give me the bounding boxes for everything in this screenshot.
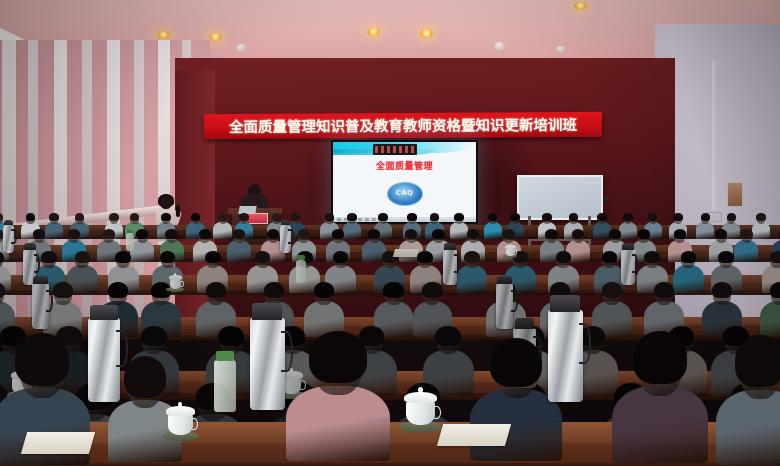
audience-hair	[542, 213, 551, 221]
conference-hall-photo: 全面质量管理知识普及教育教师资格暨知识更新培训班 全面质量管理 CAQ	[0, 0, 780, 466]
audience-hair	[609, 229, 621, 239]
audience-hair	[103, 229, 115, 239]
teacup-body	[406, 401, 435, 425]
audience-hair	[648, 213, 657, 221]
thermos-cap	[252, 303, 282, 320]
foreground-torso	[716, 390, 780, 466]
thermos-cap	[90, 305, 118, 320]
audience-hair	[108, 282, 128, 298]
audience-hair	[770, 251, 780, 264]
audience-hair	[740, 229, 752, 239]
slide-logo-text: CAQ	[388, 189, 422, 197]
thermos-handle	[288, 229, 293, 244]
audience-hair	[267, 229, 279, 239]
audience-hair	[332, 229, 344, 239]
audience-hair	[597, 213, 606, 221]
audience-hair	[272, 213, 281, 221]
audience-hair	[602, 282, 622, 298]
audience-hair	[53, 282, 73, 298]
bottle-cap	[216, 351, 234, 361]
bottle-cap	[127, 230, 133, 234]
teacup	[506, 245, 515, 256]
audience-hair	[191, 213, 200, 221]
thermos-flask	[3, 225, 14, 253]
audience-hair	[141, 326, 167, 347]
audience-hair	[644, 251, 660, 264]
audience-hair	[435, 326, 461, 347]
foreground-hair	[124, 356, 165, 398]
water-bottle	[126, 233, 134, 251]
audience-hair	[130, 213, 139, 221]
audience-hair	[545, 229, 557, 239]
audience-hair	[33, 229, 45, 239]
audience-member	[457, 252, 488, 296]
audience-hair	[0, 213, 3, 221]
audience-hair	[602, 251, 618, 264]
audience-hair	[0, 251, 4, 264]
water-bottle	[214, 360, 236, 412]
event-banner-text: 全面质量管理知识普及教育教师资格暨知识更新培训班	[229, 114, 577, 137]
thermos-cap	[24, 243, 36, 249]
foreground-attendee	[612, 336, 708, 456]
audience-area	[0, 210, 780, 466]
thermos-cap	[4, 220, 13, 225]
audience-hair	[218, 213, 227, 221]
teacup-lid	[169, 275, 183, 280]
audience-hair	[464, 251, 480, 264]
audience-hair	[0, 282, 5, 298]
audience-hair	[115, 251, 131, 264]
slide-title-text: 全面质量管理	[333, 159, 476, 172]
audience-hair	[422, 282, 442, 298]
slide-title-box	[373, 144, 417, 155]
foreground-hair	[735, 335, 780, 387]
audience-hair	[75, 213, 84, 221]
foreground-torso	[612, 386, 708, 463]
audience-hair	[136, 229, 148, 239]
ceiling-downlight-icon	[209, 33, 222, 41]
audience-hair	[712, 282, 732, 298]
audience-hair	[405, 229, 417, 239]
audience-hair	[75, 251, 91, 264]
audience-hair	[161, 213, 170, 221]
teacup-body	[168, 414, 193, 435]
thermos-handle	[511, 290, 518, 312]
event-banner: 全面质量管理知识普及教育教师资格暨知识更新培训班	[204, 112, 602, 139]
thermos-cap	[444, 243, 456, 249]
teacup	[168, 406, 193, 435]
audience-hair	[638, 229, 650, 239]
thermos-cap	[515, 318, 535, 329]
audience-hair	[556, 251, 572, 264]
teacup	[406, 392, 435, 425]
audience-hair	[347, 213, 356, 221]
audience-hair	[333, 251, 349, 264]
teacup-lid	[505, 245, 516, 249]
audience-hair	[454, 213, 463, 221]
audience-hair	[681, 251, 697, 264]
audience-hair	[467, 229, 479, 239]
audience-hair	[314, 282, 334, 298]
audience-hair	[68, 229, 80, 239]
ceiling-downlight-icon	[157, 31, 170, 39]
water-bottle	[296, 260, 306, 283]
audience-hair	[430, 213, 439, 221]
audience-hair	[432, 229, 444, 239]
thermos-flask	[496, 283, 513, 329]
ceiling-downlight-icon	[420, 29, 433, 37]
thermos-cap	[33, 276, 48, 284]
audience-hair	[233, 229, 245, 239]
audience-hair	[26, 213, 35, 221]
audience-hair	[756, 213, 765, 221]
thermos-cap	[622, 243, 634, 249]
audience-hair	[291, 213, 300, 221]
thermos-cap	[497, 276, 512, 284]
teacup-lid	[404, 392, 437, 403]
audience-hair	[417, 251, 433, 264]
audience-hair	[160, 251, 176, 264]
audience-hair	[718, 251, 734, 264]
teacup-body	[170, 279, 182, 289]
thermos-flask	[250, 318, 285, 410]
audience-hair	[715, 229, 727, 239]
thermos-flask	[621, 249, 635, 285]
wall-conduit	[712, 60, 715, 210]
ceiling-downlight-icon	[574, 2, 587, 10]
wall-hook-icon	[604, 196, 609, 201]
teacup-body	[506, 248, 515, 256]
thermos-handle	[34, 254, 40, 272]
thermos-handle	[11, 229, 16, 244]
audience-hair	[368, 229, 380, 239]
audience-hair	[623, 213, 632, 221]
audience-hair	[165, 229, 177, 239]
audience-hair	[199, 229, 211, 239]
thermos-flask	[88, 318, 120, 402]
audience-hair	[109, 213, 118, 221]
audience-hair	[218, 326, 244, 347]
audience-hair	[572, 229, 584, 239]
audience-hair	[673, 213, 682, 221]
audience-hair	[701, 213, 710, 221]
audience-member	[760, 284, 780, 341]
bottle-cap	[297, 255, 305, 260]
foreground-hair	[490, 338, 542, 387]
handout-paper	[21, 432, 95, 454]
audience-hair	[41, 251, 57, 264]
foreground-hair	[309, 331, 367, 383]
audience-hair	[674, 229, 686, 239]
foreground-hair	[633, 331, 687, 384]
foreground-hair	[15, 333, 69, 386]
thermos-flask	[443, 249, 457, 285]
audience-hair	[325, 213, 334, 221]
audience-hair	[264, 282, 284, 298]
foreground-attendee	[716, 340, 780, 458]
audience-hair	[383, 282, 403, 298]
audience-torso	[457, 265, 488, 293]
audience-hair	[205, 251, 221, 264]
ceiling-downlight-icon	[367, 28, 380, 36]
audience-hair	[255, 251, 271, 264]
front-desk-edge	[0, 463, 780, 466]
audience-hair	[239, 213, 248, 221]
presenter-head	[160, 196, 172, 209]
foreground-attendee	[286, 336, 390, 454]
audience-hair	[488, 213, 497, 221]
teacup-lid	[166, 406, 195, 416]
thermos-cap	[281, 220, 290, 225]
audience-hair	[49, 213, 58, 221]
audience-torso	[760, 301, 780, 337]
slide-logo-icon: CAQ	[387, 182, 423, 206]
foreground-torso	[286, 386, 390, 462]
audience-hair	[503, 229, 515, 239]
thermos-cap	[550, 295, 580, 312]
handout-paper	[437, 424, 511, 446]
thermos-flask	[548, 310, 583, 402]
audience-hair	[298, 229, 310, 239]
audience-hair	[510, 213, 519, 221]
teacup-knob	[418, 387, 423, 393]
audience-hair	[654, 282, 674, 298]
audience-hair	[378, 213, 387, 221]
audience-hair	[727, 213, 736, 221]
thermos-flask	[280, 225, 291, 253]
thermos-handle	[116, 330, 127, 368]
wall-plate-icon	[727, 182, 743, 207]
thermos-flask	[32, 283, 49, 329]
audience-hair	[770, 282, 780, 298]
handout-paper	[393, 249, 419, 257]
audience-hair	[569, 213, 578, 221]
audience-hair	[206, 282, 226, 298]
teacup	[170, 275, 182, 289]
audience-hair	[407, 213, 416, 221]
